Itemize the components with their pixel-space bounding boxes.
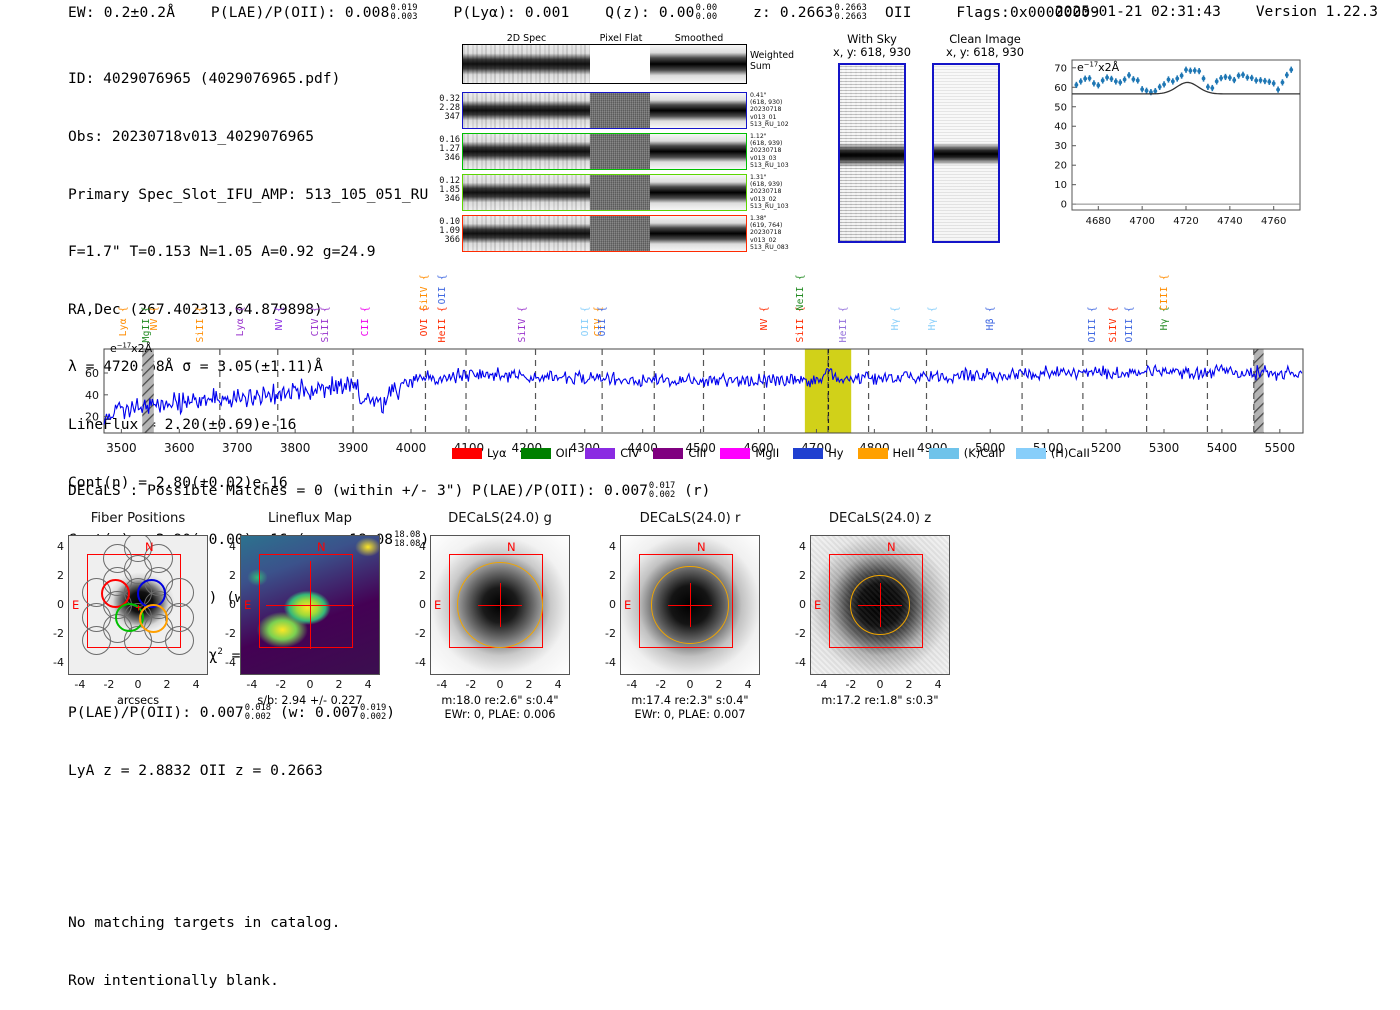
fiber-circle[interactable] bbox=[82, 626, 111, 655]
x-tick-label: 0 bbox=[124, 678, 152, 691]
fiber-circle[interactable] bbox=[165, 626, 194, 655]
with-sky-caption: With Skyx, y: 618, 930 bbox=[822, 33, 922, 60]
x-tick-label: -2 bbox=[267, 678, 295, 691]
info-obs: Obs: 20230718v013_4029076965 bbox=[68, 127, 429, 146]
emission-line-label-heii: HeII { bbox=[838, 306, 849, 342]
panel-title-fiber-positions: Fiber Positions bbox=[56, 511, 220, 526]
spec2d-row-1-right-values: 0.41"(618, 930) 20230718v013_01 513_RU_1… bbox=[750, 92, 802, 128]
info-plae-lo: 0.002 bbox=[245, 712, 271, 722]
with-sky-image[interactable] bbox=[838, 63, 906, 243]
svg-text:60: 60 bbox=[85, 367, 99, 380]
emission-line-label-ciii: CIII { bbox=[1159, 274, 1170, 310]
info-primary: Primary Spec_Slot_IFU_AMP: 513_105_051_R… bbox=[68, 185, 429, 204]
x-tick-label: -4 bbox=[428, 678, 456, 691]
svg-text:4680: 4680 bbox=[1086, 216, 1111, 227]
spec2d-row-3[interactable] bbox=[462, 174, 747, 211]
header-plae-lo: 0.003 bbox=[391, 12, 418, 22]
x-tick-label: 2 bbox=[515, 678, 543, 691]
emission-line-label-ly: Lyα { bbox=[118, 306, 129, 336]
aperture-ellipse bbox=[457, 562, 543, 648]
spec2d-row-3-right-values: 1.31"(618, 939) 20230718v013_02 513_RU_1… bbox=[750, 174, 802, 210]
x-tick-label: 0 bbox=[676, 678, 704, 691]
header-plae-value: 0.008 bbox=[345, 5, 390, 21]
legend-swatch bbox=[929, 448, 959, 459]
svg-text:40: 40 bbox=[85, 389, 99, 402]
legend-swatch bbox=[858, 448, 888, 459]
emission-line-label-nv: NV { bbox=[149, 306, 160, 330]
x-tick-label: 4 bbox=[924, 678, 952, 691]
header-z-type: OII bbox=[885, 5, 912, 21]
y-tick-label: -2 bbox=[594, 627, 616, 640]
panel-caption-primary: m:17.2 re:1.8" s:0.3" bbox=[780, 694, 980, 708]
emission-line-label-ly: Lyα { bbox=[235, 306, 246, 336]
legend-label: CIII bbox=[688, 446, 706, 460]
info-redshifts: LyA z = 2.8832 OII z = 0.2663 bbox=[68, 761, 429, 780]
svg-text:5300: 5300 bbox=[1149, 441, 1180, 455]
zoomed-line-plot[interactable]: 010203040506070 46804700472047404760 e−1… bbox=[1036, 58, 1304, 244]
compass-north: N bbox=[887, 540, 896, 554]
panel-image-fiber-positions[interactable]: + bbox=[68, 535, 208, 675]
decals-summary-line: DECaLS : Possible Matches = 0 (within +/… bbox=[68, 482, 710, 500]
y-tick-label: 2 bbox=[784, 569, 806, 582]
legend-swatch bbox=[720, 448, 750, 459]
legend-item-kcaii[interactable]: (K)CaII bbox=[929, 446, 1002, 460]
y-tick-label: -4 bbox=[784, 656, 806, 669]
legend-swatch bbox=[521, 448, 551, 459]
panel-caption-secondary: EWr: 0, PLAE: 0.007 bbox=[590, 708, 790, 722]
compass-north: N bbox=[697, 540, 706, 554]
emission-line-label-oii: OII { bbox=[580, 306, 591, 336]
legend-label: Hy bbox=[828, 446, 843, 460]
svg-text:10: 10 bbox=[1054, 180, 1067, 191]
svg-text:20: 20 bbox=[1054, 161, 1067, 172]
x-tick-label: -2 bbox=[95, 678, 123, 691]
spec2d-row-4-right-values: 1.38"(619, 764) 20230718v013_02 513_RU_0… bbox=[750, 215, 802, 251]
decals-value: 0.007 bbox=[604, 482, 648, 499]
spec2d-row-1[interactable] bbox=[462, 92, 747, 129]
legend-label: (K)CaII bbox=[964, 446, 1002, 460]
x-tick-label: 2 bbox=[895, 678, 923, 691]
compass-north: N bbox=[317, 540, 326, 554]
y-tick-label: 0 bbox=[594, 598, 616, 611]
legend-item-ciii[interactable]: CIII bbox=[653, 446, 706, 460]
emission-line-label-h: Hγ { bbox=[927, 306, 938, 330]
spec2d-row-4-left-values: 0.101.09366 bbox=[430, 218, 460, 246]
emission-line-label-cii: CII { bbox=[360, 306, 371, 336]
legend-label: Lyα bbox=[487, 446, 507, 460]
svg-text:5500: 5500 bbox=[1265, 441, 1296, 455]
spec2d-row-2-right-values: 1.12"(618, 939) 20230718v013_03 513_RU_1… bbox=[750, 133, 802, 169]
y-tick-label: -4 bbox=[404, 656, 426, 669]
compass-east: E bbox=[814, 598, 821, 612]
emission-line-label-ovi: OVI { bbox=[419, 306, 430, 336]
header-qz-lo: 0.00 bbox=[696, 12, 718, 22]
spectrum-legend: LyαOIICIVCIIIMgIIHyHeII(K)CaII(H)CaII bbox=[452, 446, 1090, 460]
legend-label: HeII bbox=[893, 446, 915, 460]
x-tick-label: -4 bbox=[808, 678, 836, 691]
spec2d-row-2[interactable] bbox=[462, 133, 747, 170]
decals-lo: 0.002 bbox=[649, 490, 675, 500]
footer-line-1: No matching targets in catalog. bbox=[68, 913, 340, 932]
legend-item-civ[interactable]: CIV bbox=[585, 446, 639, 460]
x-tick-label: 2 bbox=[153, 678, 181, 691]
x-tick-label: 4 bbox=[182, 678, 210, 691]
svg-text:4000: 4000 bbox=[396, 441, 427, 455]
y-tick-label: 4 bbox=[42, 540, 64, 553]
full-spectrum-units-annotation: e−17x2Å bbox=[110, 342, 152, 355]
header-ew: EW: 0.2±0.2Å bbox=[68, 5, 175, 21]
panel-title-lineflux-map: Lineflux Map bbox=[228, 511, 392, 526]
legend-label: MgII bbox=[755, 446, 779, 460]
svg-text:60: 60 bbox=[1054, 83, 1067, 94]
spec2d-col-title-pixelflat: Pixel Flat bbox=[591, 33, 651, 44]
legend-swatch bbox=[653, 448, 683, 459]
svg-text:70: 70 bbox=[1054, 63, 1067, 74]
clean-image-caption: Clean Imagex, y: 618, 930 bbox=[930, 33, 1040, 60]
spec2d-row-1-left-values: 0.322.28347 bbox=[430, 95, 460, 123]
svg-text:3900: 3900 bbox=[338, 441, 369, 455]
panel-title-decals-g: DECaLS(24.0) g bbox=[418, 511, 582, 526]
svg-text:3800: 3800 bbox=[280, 441, 311, 455]
panel-caption-primary: m:17.4 re:2.3" s:0.4" bbox=[590, 694, 790, 708]
header-summary-line: EW: 0.2±0.2Å P(LAE)/P(OII): 0.0080.0190.… bbox=[68, 4, 1099, 22]
header-datetime: 2025-01-21 02:31:43 bbox=[1055, 4, 1221, 20]
x-tick-label: 0 bbox=[296, 678, 324, 691]
header-plae-label: P(LAE)/P(OII): bbox=[211, 5, 336, 21]
emission-line-label-neii: NeII { bbox=[795, 274, 806, 310]
info-seeing: F=1.7" T=0.153 N=1.05 A=0.92 g=24.9 bbox=[68, 242, 429, 261]
svg-text:5400: 5400 bbox=[1207, 441, 1238, 455]
info-plae-w-lo: 0.002 bbox=[360, 712, 386, 722]
footer-line-2: Row intentionally blank. bbox=[68, 971, 340, 990]
crosshair-horizontal bbox=[266, 605, 354, 606]
y-tick-label: -2 bbox=[214, 627, 236, 640]
footer-note: No matching targets in catalog. Row inte… bbox=[68, 874, 340, 1010]
svg-text:4720: 4720 bbox=[1173, 216, 1198, 227]
emission-line-label-siii: SiII { bbox=[795, 306, 806, 342]
panel-caption-primary: s/b: 2.94 +/- 0.227 bbox=[210, 694, 410, 708]
emission-line-label-siiv: SiIV { bbox=[517, 306, 528, 342]
svg-text:30: 30 bbox=[1054, 141, 1067, 152]
svg-text:4760: 4760 bbox=[1261, 216, 1286, 227]
emission-line-label-siiv: SiIV { bbox=[1108, 306, 1119, 342]
spec2d-col-title-2dspec: 2D Spec bbox=[462, 33, 591, 44]
x-tick-label: -4 bbox=[66, 678, 94, 691]
x-tick-label: -4 bbox=[618, 678, 646, 691]
zoom-plot-units-annotation: e−17x2Å bbox=[1077, 61, 1119, 74]
legend-label: (H)CaII bbox=[1051, 446, 1090, 460]
header-timestamp-version: 2025-01-21 02:31:43 Version 1.22.3 bbox=[1055, 4, 1378, 20]
spec2d-row-2-left-values: 0.161.27346 bbox=[430, 136, 460, 164]
emission-line-label-siiv: SiIV { bbox=[419, 274, 430, 310]
y-tick-label: 4 bbox=[214, 540, 236, 553]
svg-text:4700: 4700 bbox=[1129, 216, 1154, 227]
y-tick-label: 2 bbox=[594, 569, 616, 582]
legend-swatch bbox=[452, 448, 482, 459]
y-tick-label: -2 bbox=[404, 627, 426, 640]
svg-text:5200: 5200 bbox=[1091, 441, 1122, 455]
legend-item-hy[interactable]: Hy bbox=[793, 446, 843, 460]
legend-swatch bbox=[585, 448, 615, 459]
emission-line-label-nv: NV { bbox=[274, 306, 285, 330]
legend-swatch bbox=[1016, 448, 1046, 459]
panel-image-decals-z[interactable] bbox=[810, 535, 950, 675]
compass-north: N bbox=[145, 540, 154, 554]
legend-item-mgii[interactable]: MgII bbox=[720, 446, 779, 460]
svg-text:3700: 3700 bbox=[222, 441, 253, 455]
emission-line-label-oiii: OIII { bbox=[1124, 306, 1135, 342]
legend-item-heii[interactable]: HeII bbox=[858, 446, 915, 460]
y-tick-label: 2 bbox=[214, 569, 236, 582]
header-version: Version 1.22.3 bbox=[1256, 4, 1378, 20]
header-z: z: 0.2663 bbox=[753, 5, 833, 21]
emission-line-label-nv: NV { bbox=[759, 306, 770, 330]
header-plya: P(Lyα): 0.001 bbox=[453, 5, 569, 21]
spec2d-row-4[interactable] bbox=[462, 215, 747, 252]
zoomed-line-plot-svg: 010203040506070 46804700472047404760 bbox=[1036, 58, 1304, 244]
compass-east: E bbox=[624, 598, 631, 612]
compass-east: E bbox=[72, 598, 79, 612]
x-tick-label: 2 bbox=[705, 678, 733, 691]
y-tick-label: 0 bbox=[404, 598, 426, 611]
svg-text:3600: 3600 bbox=[164, 441, 195, 455]
x-tick-label: -2 bbox=[837, 678, 865, 691]
legend-item-hcaii[interactable]: (H)CaII bbox=[1016, 446, 1090, 460]
svg-text:0: 0 bbox=[1061, 200, 1067, 211]
spec2d-group: 2D Spec Pixel Flat Smoothed WeightedSum … bbox=[430, 33, 770, 248]
y-tick-label: 2 bbox=[404, 569, 426, 582]
full-spectrum-svg: 204060 350036003700380039004000410042004… bbox=[0, 270, 1400, 470]
panel-title-decals-z: DECaLS(24.0) z bbox=[798, 511, 962, 526]
clean-image[interactable] bbox=[932, 63, 1000, 243]
y-tick-label: 4 bbox=[594, 540, 616, 553]
x-tick-label: 2 bbox=[325, 678, 353, 691]
x-tick-label: 0 bbox=[486, 678, 514, 691]
emission-line-label-oiii: OIII { bbox=[1087, 306, 1098, 342]
legend-item-ly[interactable]: Lyα bbox=[452, 446, 507, 460]
panel-image-lineflux-map[interactable] bbox=[240, 535, 380, 675]
y-tick-label: 0 bbox=[784, 598, 806, 611]
header-qz: Q(z): 0.00 bbox=[605, 5, 694, 21]
svg-text:50: 50 bbox=[1054, 102, 1067, 113]
spec2d-row-weighted-sum[interactable] bbox=[462, 44, 747, 84]
decals-suffix: (r) bbox=[684, 482, 710, 499]
legend-label: CIV bbox=[620, 446, 639, 460]
compass-east: E bbox=[434, 598, 441, 612]
aperture-ellipse bbox=[651, 566, 728, 643]
compass-east: E bbox=[244, 598, 251, 612]
svg-text:20: 20 bbox=[85, 411, 99, 424]
y-tick-label: -4 bbox=[42, 656, 64, 669]
header-z-lo: 0.2663 bbox=[834, 12, 867, 22]
legend-item-oii[interactable]: OII bbox=[521, 446, 572, 460]
panel-caption-secondary: EWr: 0, PLAE: 0.006 bbox=[400, 708, 600, 722]
y-tick-label: -4 bbox=[214, 656, 236, 669]
panel-caption-primary: m:18.0 re:2.6" s:0.4" bbox=[400, 694, 600, 708]
full-spectrum-panel[interactable]: 204060 350036003700380039004000410042004… bbox=[0, 270, 1400, 470]
panel-title-decals-r: DECaLS(24.0) r bbox=[608, 511, 772, 526]
x-tick-label: -2 bbox=[647, 678, 675, 691]
fiber-circle-highlighted[interactable] bbox=[139, 604, 168, 633]
x-tick-label: -2 bbox=[457, 678, 485, 691]
y-tick-label: 2 bbox=[42, 569, 64, 582]
spec2d-row-3-left-values: 0.121.85346 bbox=[430, 177, 460, 205]
x-tick-label: 0 bbox=[866, 678, 894, 691]
y-tick-label: 0 bbox=[42, 598, 64, 611]
emission-line-label-oii: OII { bbox=[437, 274, 448, 304]
y-tick-label: -2 bbox=[42, 627, 64, 640]
x-tick-label: 4 bbox=[544, 678, 572, 691]
fov-box bbox=[259, 554, 353, 648]
panel-image-decals-g[interactable] bbox=[430, 535, 570, 675]
emission-line-label-heii: HeII { bbox=[437, 306, 448, 342]
emission-line-label-siii: SiII { bbox=[320, 306, 331, 342]
y-tick-label: -2 bbox=[784, 627, 806, 640]
x-tick-label: -4 bbox=[238, 678, 266, 691]
svg-text:4740: 4740 bbox=[1217, 216, 1242, 227]
legend-swatch bbox=[793, 448, 823, 459]
x-tick-label: 4 bbox=[734, 678, 762, 691]
compass-north: N bbox=[507, 540, 516, 554]
svg-text:40: 40 bbox=[1054, 122, 1067, 133]
x-tick-label: 4 bbox=[354, 678, 382, 691]
y-tick-label: -4 bbox=[594, 656, 616, 669]
info-id: ID: 4029076965 (4029076965.pdf) bbox=[68, 69, 429, 88]
target-marker: + bbox=[135, 601, 142, 614]
y-tick-label: 4 bbox=[784, 540, 806, 553]
decals-prefix: DECaLS : Possible Matches = 0 (within +/… bbox=[68, 482, 595, 499]
emission-line-label-oii: OII { bbox=[597, 306, 608, 336]
y-tick-label: 0 bbox=[214, 598, 236, 611]
legend-label: OII bbox=[556, 446, 572, 460]
spec2d-col-title-smoothed: Smoothed bbox=[651, 33, 747, 44]
emission-line-label-h: Hβ { bbox=[985, 306, 996, 330]
svg-text:3500: 3500 bbox=[106, 441, 137, 455]
emission-line-label-h: Hγ { bbox=[890, 306, 901, 330]
panel-image-decals-r[interactable] bbox=[620, 535, 760, 675]
panel-caption-primary: arcsecs bbox=[38, 694, 238, 708]
emission-line-label-siii: SiII { bbox=[195, 306, 206, 342]
spec2d-weighted-sum-label: WeightedSum bbox=[750, 51, 794, 72]
y-tick-label: 4 bbox=[404, 540, 426, 553]
